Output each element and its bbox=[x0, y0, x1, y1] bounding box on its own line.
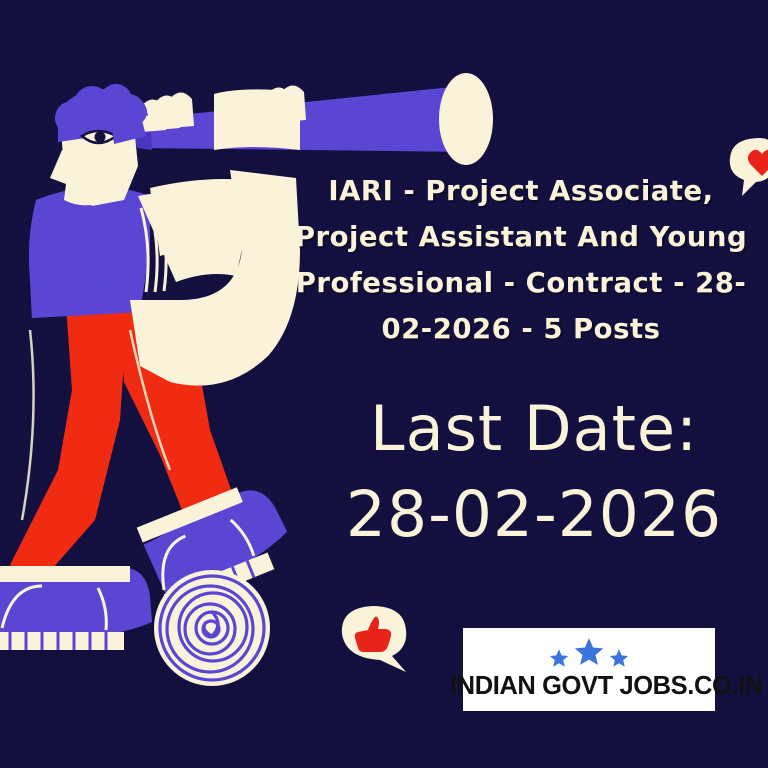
logo-stars bbox=[463, 636, 715, 670]
last-date-label: Last Date: bbox=[300, 386, 768, 472]
star-icon-left bbox=[548, 648, 570, 670]
curly-hair-icon bbox=[55, 84, 147, 142]
head bbox=[50, 84, 162, 206]
star-icon-right bbox=[608, 648, 630, 670]
job-notification-poster: IARI - Project Associate, Project Assist… bbox=[0, 0, 768, 768]
poster-title: IARI - Project Associate, Project Assist… bbox=[286, 168, 756, 352]
poster-title-block: IARI - Project Associate, Project Assist… bbox=[286, 168, 756, 352]
cream-arm bbox=[130, 170, 300, 386]
site-logo-badge[interactable]: INDIAN GOVT JOBS.CO.IN bbox=[463, 628, 715, 711]
hands bbox=[140, 85, 306, 150]
red-pants bbox=[10, 300, 240, 585]
last-date-value: 28-02-2026 bbox=[300, 472, 768, 558]
purple-boots bbox=[0, 476, 298, 650]
logo-brand-text: INDIAN GOVT JOBS.CO.IN bbox=[450, 672, 728, 701]
star-icon-center bbox=[572, 636, 606, 670]
spiral-icon bbox=[154, 570, 270, 686]
telescope-icon bbox=[130, 73, 493, 165]
thumbs-up-bubble bbox=[336, 604, 418, 676]
last-date-block: Last Date: 28-02-2026 bbox=[300, 386, 768, 558]
eye-icon bbox=[82, 131, 116, 143]
telescope-lens-icon bbox=[439, 73, 493, 165]
purple-shirt bbox=[29, 187, 150, 318]
